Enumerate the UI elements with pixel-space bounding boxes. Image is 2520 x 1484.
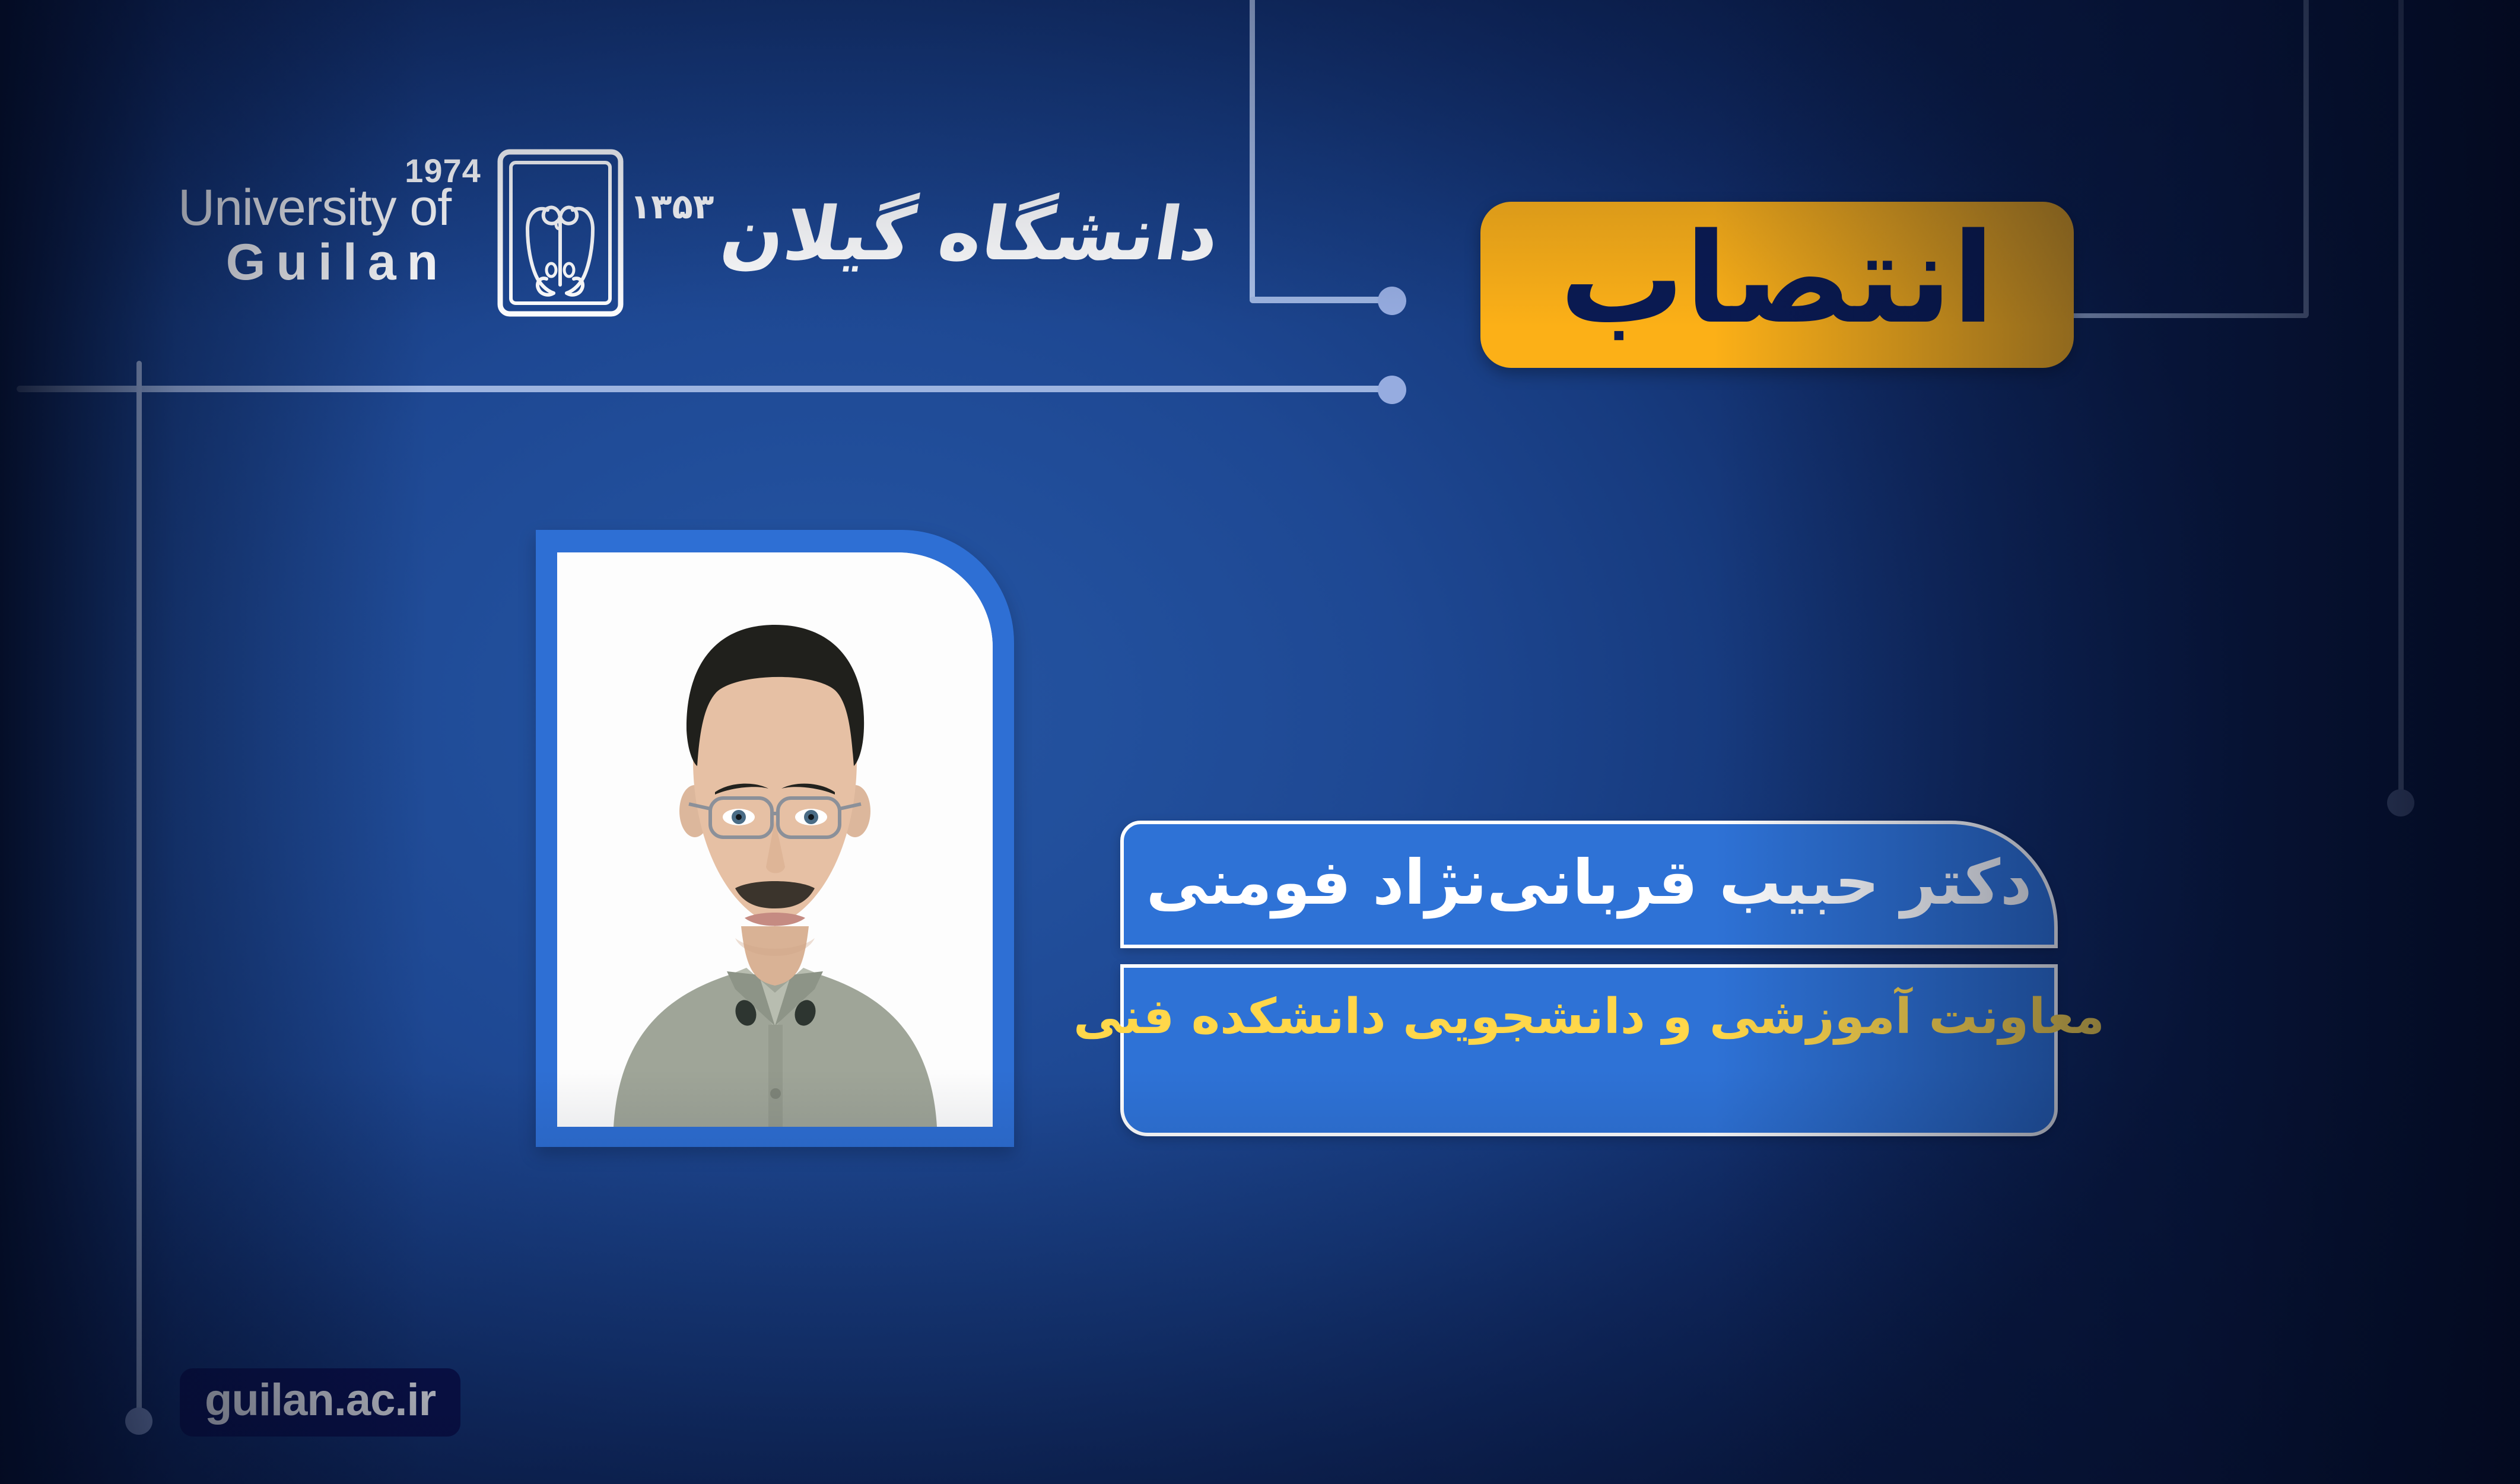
website-url: guilan.ac.ir: [205, 1378, 436, 1423]
person-name-banner: دکتر حبیب قربانی‌نژاد فومنی: [1120, 821, 2058, 948]
decor-line-right-outer-vertical: [2398, 0, 2404, 807]
portrait-frame: [536, 530, 1014, 1147]
decor-dot-left-bottom: [125, 1407, 152, 1435]
decor-line-top-vertical: [1250, 0, 1255, 303]
guilan-emblem-icon: [497, 148, 624, 320]
logo-founding-year-fa: ۱۳۵۳: [630, 186, 714, 227]
decor-dot-logo-underline: [1378, 376, 1406, 404]
logo-name-english: Guilan: [178, 233, 486, 292]
decor-line-right-inner-vertical: [2303, 0, 2309, 317]
appointment-badge: انتصاب: [1480, 202, 2074, 368]
portrait-photo: [557, 552, 993, 1127]
university-logo: 1974 University of Guilan ۱۳۵۳ دانشگاه گ…: [178, 148, 1222, 320]
logo-founding-year-en: 1974: [405, 151, 481, 190]
logo-name-persian: دانشگاه گیلان: [716, 192, 1225, 277]
decor-dot-top: [1378, 287, 1406, 315]
appointment-label: انتصاب: [1559, 217, 1994, 341]
person-position: معاونت آموزشی و دانشجویی دانشکده فنی: [1073, 993, 2105, 1041]
decor-line-top-horizontal: [1250, 297, 1398, 303]
poster-canvas: 1974 University of Guilan ۱۳۵۳ دانشگاه گ…: [0, 0, 2520, 1484]
website-badge[interactable]: guilan.ac.ir: [180, 1368, 460, 1437]
decor-line-left-vertical: [136, 361, 142, 1423]
decor-line-logo-underline: [17, 386, 1399, 392]
person-position-banner: معاونت آموزشی و دانشجویی دانشکده فنی: [1120, 964, 2058, 1136]
decor-dot-right: [2387, 789, 2414, 816]
person-name: دکتر حبیب قربانی‌نژاد فومنی: [1146, 851, 2032, 913]
logo-english-text: 1974 University of Guilan: [178, 177, 486, 292]
